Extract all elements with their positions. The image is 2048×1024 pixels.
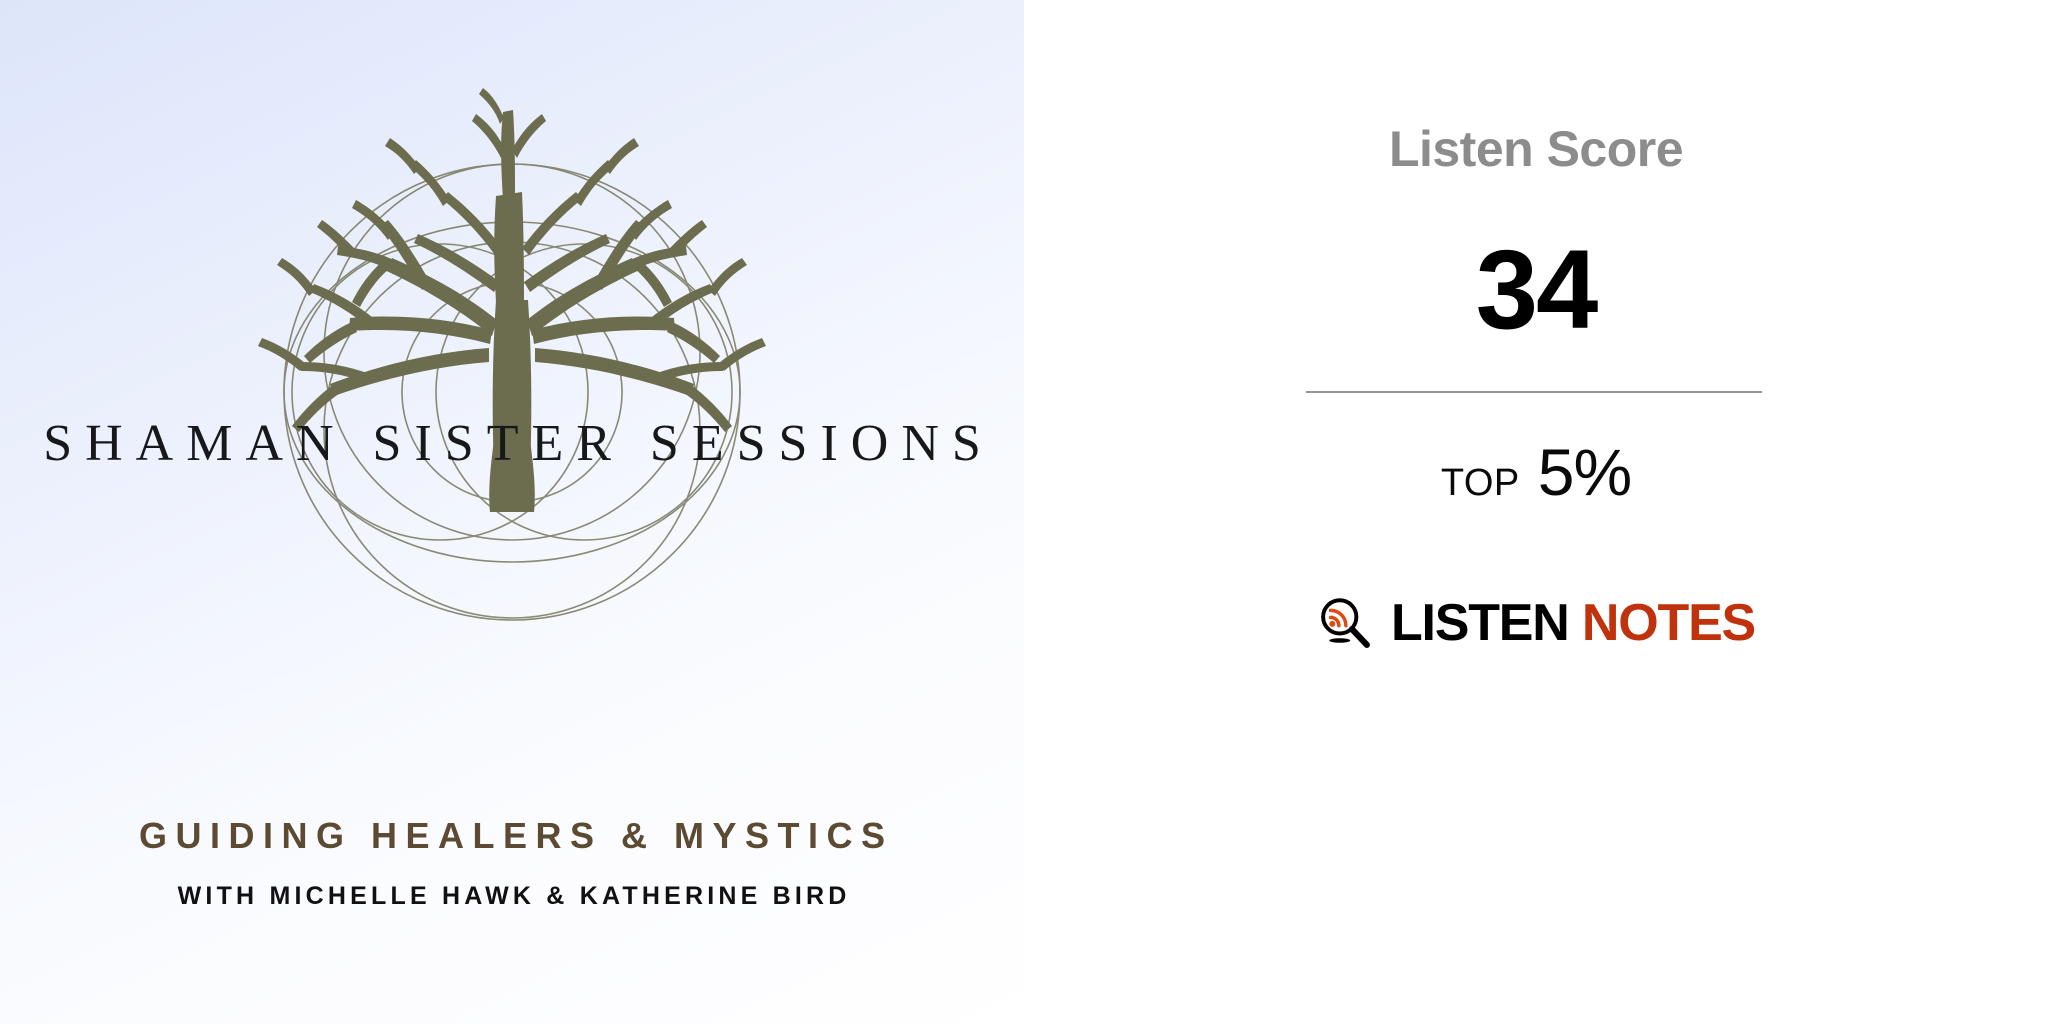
brand-word-listen: LISTEN: [1391, 594, 1569, 652]
cover-title: SHAMAN SISTER SESSIONS: [0, 414, 1024, 473]
cover-hosts: WITH MICHELLE HAWK & KATHERINE BIRD: [0, 882, 1024, 911]
listen-score-label: Listen Score: [1024, 120, 2048, 178]
listen-notes-brand[interactable]: LISTEN NOTES: [1024, 595, 2048, 651]
rank-percentile-value: 5%: [1538, 434, 1631, 510]
score-divider: [1306, 391, 1762, 393]
tree-of-life-icon: [0, 0, 1024, 1024]
listen-score-value: 34: [1024, 228, 2048, 351]
listen-notes-wordmark: LISTEN NOTES: [1391, 597, 1755, 649]
rank-prefix-label: TOP: [1441, 462, 1520, 505]
listen-score-card: SHAMAN SISTER SESSIONS GUIDING HEALERS &…: [0, 0, 2048, 1024]
listen-score-panel: Listen Score 34 TOP 5% LISTEN NOTES: [1024, 0, 2048, 1024]
listen-notes-magnifier-rss-icon: [1317, 595, 1373, 651]
podcast-cover-art[interactable]: SHAMAN SISTER SESSIONS GUIDING HEALERS &…: [0, 0, 1024, 1024]
cover-tagline: GUIDING HEALERS & MYSTICS: [0, 815, 1024, 857]
listen-score-rank: TOP 5%: [1024, 434, 2048, 510]
brand-word-notes: NOTES: [1582, 594, 1755, 652]
